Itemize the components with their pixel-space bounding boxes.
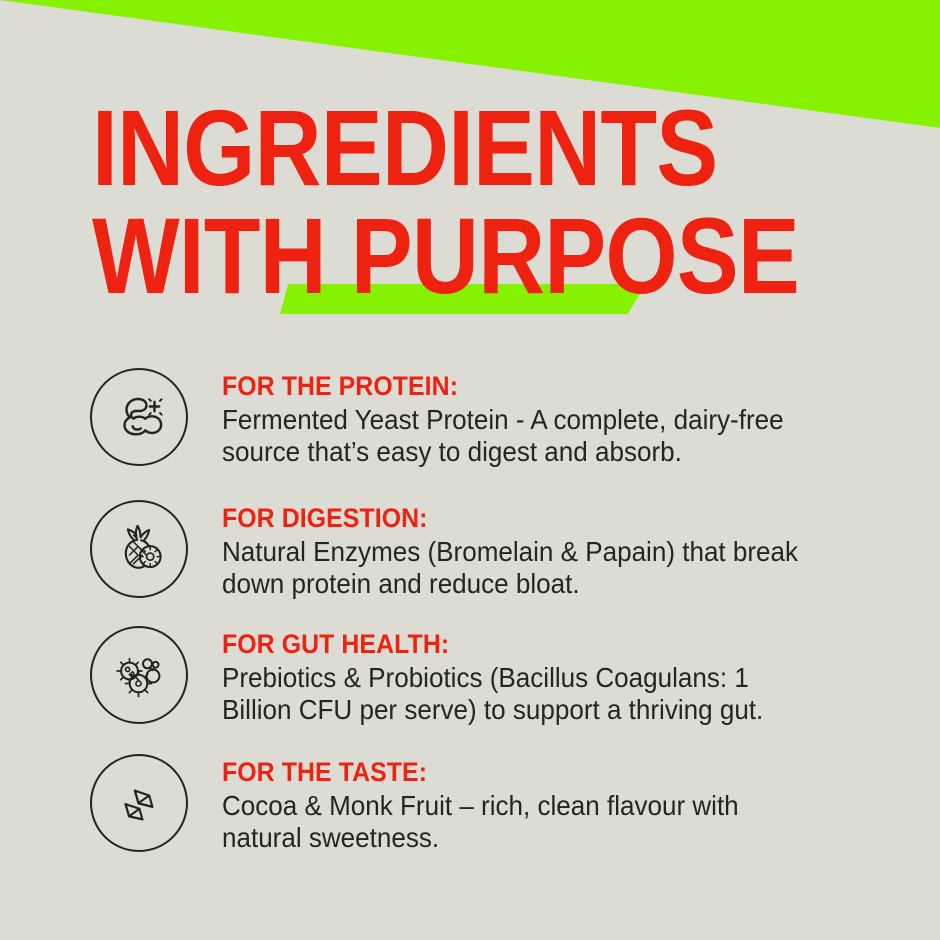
feature-text: FOR THE PROTEIN: Fermented Yeast Protein… [188, 368, 862, 468]
list-item: FOR GUT HEALTH: Prebiotics & Probiotics … [0, 626, 940, 742]
feature-text: FOR THE TASTE: Cocoa & Monk Fruit – rich… [188, 754, 862, 854]
feature-text: FOR GUT HEALTH: Prebiotics & Probiotics … [188, 626, 862, 726]
feature-description: Prebiotics & Probiotics (Bacillus Coagul… [222, 662, 817, 726]
feature-text: FOR DIGESTION: Natural Enzymes (Bromelai… [188, 500, 862, 600]
feature-description: Cocoa & Monk Fruit – rich, clean flavour… [222, 790, 817, 854]
flexed-bicep-icon [90, 368, 188, 466]
page-title: INGREDIENTS WITH PURPOSE [92, 96, 892, 307]
list-item: FOR THE TASTE: Cocoa & Monk Fruit – rich… [0, 754, 940, 870]
feature-title: FOR GUT HEALTH: [222, 630, 811, 658]
feature-list: FOR THE PROTEIN: Fermented Yeast Protein… [0, 368, 940, 870]
chocolate-chunks-icon [90, 754, 188, 852]
feature-title: FOR THE TASTE: [222, 758, 811, 786]
feature-title: FOR DIGESTION: [222, 504, 811, 532]
list-item: FOR DIGESTION: Natural Enzymes (Bromelai… [0, 500, 940, 616]
headline-line-1: INGREDIENTS [92, 96, 780, 200]
headline-line-2: WITH PURPOSE [92, 204, 780, 308]
ingredients-poster: INGREDIENTS WITH PURPOSE FOR [0, 0, 940, 940]
feature-title: FOR THE PROTEIN: [222, 372, 811, 400]
feature-description: Natural Enzymes (Bromelain & Papain) tha… [222, 536, 817, 600]
list-item: FOR THE PROTEIN: Fermented Yeast Protein… [0, 368, 940, 484]
feature-description: Fermented Yeast Protein - A complete, da… [222, 404, 817, 468]
pineapple-icon [90, 500, 188, 598]
microbes-icon [90, 626, 188, 724]
